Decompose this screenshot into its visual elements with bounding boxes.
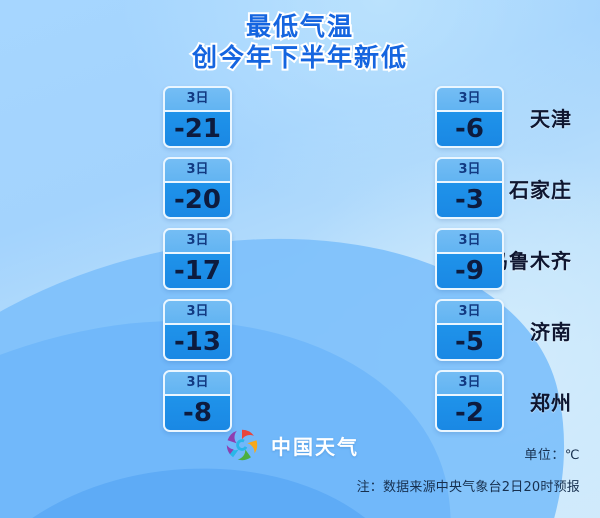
- card-date-label: 3日: [165, 159, 230, 183]
- unit-label: 单位：℃: [524, 444, 580, 463]
- right-column: 天津 3日 -6 石家庄 3日 -3 乌鲁木齐 3日 -9: [300, 82, 600, 437]
- city-label: 济南: [530, 316, 572, 345]
- temperature-card: 3日 -3: [435, 157, 504, 219]
- card-temperature-value: -21: [165, 112, 230, 146]
- weather-spiral-logo-icon: [222, 425, 262, 465]
- city-temperature-grid: 哈尔滨 3日 -21 长春 3日 -20 沈阳 3日 -17: [0, 82, 600, 437]
- card-temperature-value: -2: [437, 396, 502, 430]
- city-row: 哈尔滨 3日 -21: [0, 82, 300, 153]
- card-temperature-value: -5: [437, 325, 502, 359]
- source-note: 注：数据来源中央气象台2日20时预报: [357, 476, 580, 495]
- card-temperature-value: -17: [165, 254, 230, 288]
- temperature-card: 3日 -21: [163, 86, 232, 148]
- brand-logo-group: 中国天气: [222, 425, 359, 465]
- left-column: 哈尔滨 3日 -21 长春 3日 -20 沈阳 3日 -17: [0, 82, 300, 437]
- card-date-label: 3日: [165, 301, 230, 325]
- temperature-card: 3日 -5: [435, 299, 504, 361]
- city-row: 沈阳 3日 -17: [0, 224, 300, 295]
- card-date-label: 3日: [437, 372, 502, 396]
- card-date-label: 3日: [437, 159, 502, 183]
- temperature-card: 3日 -17: [163, 228, 232, 290]
- poster-title: 最低气温 创今年下半年新低: [0, 12, 600, 73]
- card-temperature-value: -8: [165, 396, 230, 430]
- city-label: 天津: [530, 103, 572, 132]
- city-row: 石家庄 3日 -3: [300, 153, 600, 224]
- city-label: 石家庄: [509, 174, 572, 203]
- card-date-label: 3日: [437, 230, 502, 254]
- card-date-label: 3日: [165, 372, 230, 396]
- brand-name-label: 中国天气: [271, 431, 359, 460]
- temperature-card: 3日 -8: [163, 370, 232, 432]
- card-temperature-value: -6: [437, 112, 502, 146]
- card-temperature-value: -13: [165, 325, 230, 359]
- temperature-card: 3日 -20: [163, 157, 232, 219]
- temperature-card: 3日 -6: [435, 86, 504, 148]
- weather-infographic: 最低气温 创今年下半年新低 哈尔滨 3日 -21 长春 3日 -20 沈阳: [0, 0, 600, 518]
- card-date-label: 3日: [437, 301, 502, 325]
- temperature-card: 3日 -13: [163, 299, 232, 361]
- card-date-label: 3日: [437, 88, 502, 112]
- card-date-label: 3日: [165, 230, 230, 254]
- city-label: 郑州: [530, 387, 572, 416]
- card-temperature-value: -20: [165, 183, 230, 217]
- city-row: 天津 3日 -6: [300, 82, 600, 153]
- temperature-card: 3日 -9: [435, 228, 504, 290]
- city-row: 乌鲁木齐 3日 -9: [300, 224, 600, 295]
- card-date-label: 3日: [165, 88, 230, 112]
- title-line-1: 最低气温: [0, 12, 600, 43]
- temperature-card: 3日 -2: [435, 370, 504, 432]
- city-row: 济南 3日 -5: [300, 295, 600, 366]
- card-temperature-value: -3: [437, 183, 502, 217]
- title-line-2: 创今年下半年新低: [0, 43, 600, 74]
- card-temperature-value: -9: [437, 254, 502, 288]
- city-row: 太原 3日 -13: [0, 295, 300, 366]
- city-row: 长春 3日 -20: [0, 153, 300, 224]
